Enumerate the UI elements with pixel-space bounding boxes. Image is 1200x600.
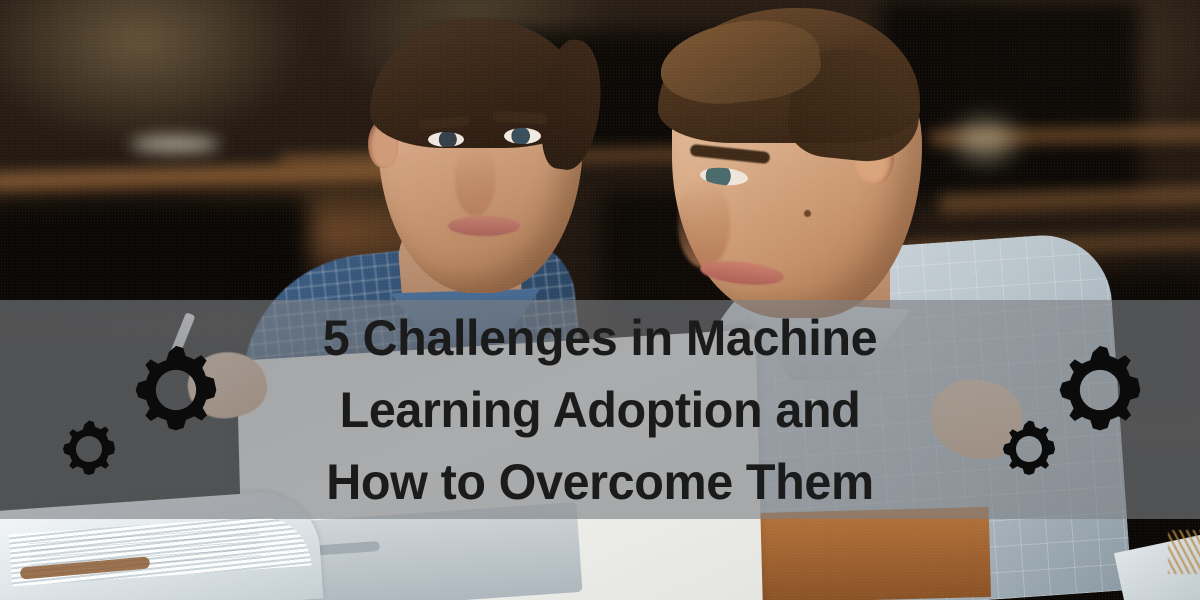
dried-plant [1168, 530, 1200, 574]
student-left-mouth [448, 216, 520, 236]
title-line-2: Learning Adoption and [280, 374, 920, 446]
gear-small-icon [58, 418, 120, 480]
title-line-3: How to Overcome Them [280, 446, 920, 518]
student-right-nose [678, 182, 730, 268]
title-line-1: 5 Challenges in Machine [280, 302, 920, 374]
page-title: 5 Challenges in Machine Learning Adoptio… [280, 302, 920, 518]
student-left-nose [455, 146, 495, 216]
gear-large-icon [128, 342, 224, 438]
student-left-eye [504, 128, 541, 144]
student-right-mole [804, 210, 811, 217]
background-light-glow [955, 120, 1015, 160]
student-left-eye [428, 132, 464, 147]
featured-image-banner: 5 Challenges in Machine Learning Adoptio… [0, 0, 1200, 600]
gear-large-icon [1052, 342, 1148, 438]
gears-decoration-left [40, 300, 240, 519]
background-light-glow [130, 136, 220, 152]
gears-decoration-right [990, 300, 1190, 519]
gear-small-icon [998, 418, 1060, 480]
